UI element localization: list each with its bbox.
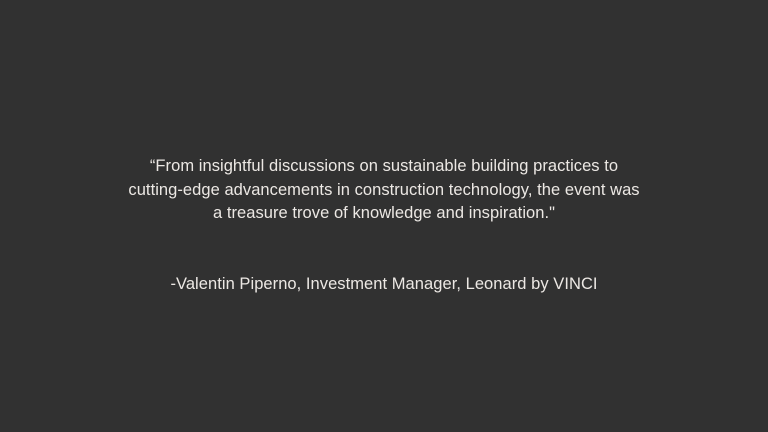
quote-block: “From insightful discussions on sustaina… bbox=[124, 155, 644, 296]
quote-text: “From insightful discussions on sustaina… bbox=[124, 155, 644, 226]
quote-attribution: -Valentin Piperno, Investment Manager, L… bbox=[124, 226, 644, 297]
quote-slide: “From insightful discussions on sustaina… bbox=[0, 0, 768, 432]
